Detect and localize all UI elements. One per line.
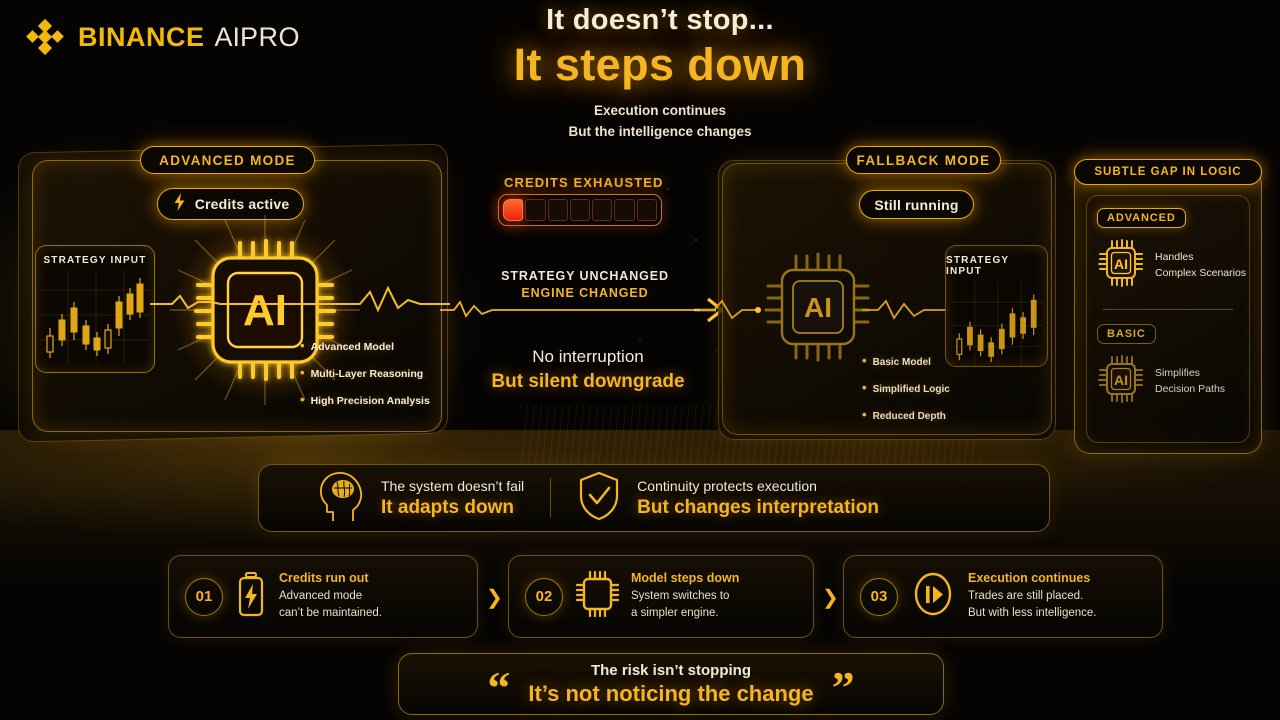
step-desc-line-1: Advanced mode [279,590,362,602]
step-desc: System switches to a simpler engine. [631,588,739,621]
step-card-01[interactable]: 01 Credits run out Advanced mode can’t b… [168,555,478,638]
gap-tag-basic: BASIC [1097,324,1156,344]
header-subtitle: Execution continues But the intelligence… [380,101,940,143]
step-text: Execution continues Trades are still pla… [968,571,1096,621]
infographic-canvas: BINANCEAIPRO It doesn’t stop... It steps… [0,0,1280,720]
step-desc-line-2: can’t be maintained. [279,607,382,619]
subtle-gap-title: SUBTLE GAP IN LOGIC [1094,166,1241,178]
statement-line-1: The system doesn’t fail [381,478,524,494]
binance-diamond-icon [24,16,66,58]
play-step-icon [910,571,956,622]
fallback-strategy-input-card: STRATEGY INPUT [945,245,1048,367]
credits-segment-empty [570,199,590,221]
step-number: 03 [860,578,898,616]
credits-exhausted-label: CREDITS EXHAUSTED [504,175,664,190]
brand-name-primary: BINANCE [78,22,205,52]
credits-progress-bar [498,194,662,226]
still-running-badge[interactable]: Still running [859,190,974,219]
step-arrow-2: ❯ [822,585,839,610]
brain-head-icon [317,469,365,528]
advanced-mode-title: ADVANCED MODE [159,153,296,168]
advanced-feature-item: High Precision Analysis [300,392,430,407]
advanced-feature-item: Multi-Layer Reasoning [300,365,430,380]
fallback-feature-item: Basic Model [862,353,950,368]
header-line-2: It steps down [380,39,940,91]
gap-text-advanced-line-1: Handles [1155,251,1194,263]
gap-text-basic-line-2: Decision Paths [1155,383,1225,395]
credits-segment-empty [525,199,545,221]
header-sub-2: But the intelligence changes [380,122,940,143]
shield-check-icon [577,470,621,527]
step-number: 01 [185,578,223,616]
step-desc: Trades are still placed. But with less i… [968,588,1096,621]
step-card-02[interactable]: 02 Model steps down System switches [508,555,814,638]
credits-segment-empty [548,199,568,221]
fallback-feature-item: Simplified Logic [862,380,950,395]
statement-line-2: It adapts down [381,497,524,519]
fallback-strategy-input-label: STRATEGY INPUT [946,255,1047,277]
gap-text-basic: Simplifies Decision Paths [1155,366,1225,398]
advanced-strategy-input-label: STRATEGY INPUT [43,255,146,266]
gap-divider [1103,309,1233,310]
basic-mini-chip-icon: AI [1097,354,1145,409]
flow-arrow [440,288,730,322]
svg-text:AI: AI [1114,372,1128,388]
gap-tag-advanced: ADVANCED [1097,208,1186,228]
flow-caption-line-1: STRATEGY UNCHANGED [470,269,700,283]
quote-text: The risk isn’t stopping It’s not noticin… [528,662,813,707]
brand-wordmark: BINANCEAIPRO [78,22,300,53]
step-desc-line-1: Trades are still placed. [968,590,1083,602]
step-desc-line-2: a simpler engine. [631,607,719,619]
statement-text: Continuity protects execution But change… [637,478,879,519]
statement-item: Continuity protects execution But change… [577,470,879,527]
fallback-feature-item: Reduced Depth [862,407,950,422]
advanced-feature-item: Advanced Model [300,338,430,353]
fallback-feature-list: Basic Model Simplified Logic Reduced Dep… [862,353,950,434]
header-line-1: It doesn’t stop... [380,4,940,37]
step-desc-line-1: System switches to [631,590,729,602]
brand-logo: BINANCEAIPRO [24,16,300,58]
header-block: It doesn’t stop... It steps down Executi… [380,4,940,143]
quote-line-1: The risk isn’t stopping [528,662,813,679]
gap-text-advanced: Handles Complex Scenarios [1155,250,1246,282]
statement-line-2: But changes interpretation [637,497,879,519]
subtle-gap-title-pill: SUBTLE GAP IN LOGIC [1074,159,1262,185]
step-arrow-1: ❯ [486,585,503,610]
step-text: Model steps down System switches to a si… [631,571,739,621]
cpu-chip-icon [575,570,619,623]
brand-name-secondary: AI [215,22,241,52]
fallback-waveform [700,290,950,330]
battery-bolt-icon [235,571,267,622]
statement-line-1: Continuity protects execution [637,478,879,494]
step-card-03[interactable]: 03 Execution continues Trades are still … [843,555,1163,638]
quote-banner: “ The risk isn’t stopping It’s not notic… [398,653,944,715]
step-number: 02 [525,578,563,616]
gap-text-advanced-line-2: Complex Scenarios [1155,267,1246,279]
subtle-gap-inner-frame: ADVANCED [1086,195,1250,443]
step-text: Credits run out Advanced mode can’t be m… [279,571,382,621]
brand-name-tertiary: PRO [240,22,300,52]
fallback-candlestick-chart [950,281,1044,366]
statement-bar: The system doesn’t fail It adapts down C… [258,464,1050,532]
credits-segment-empty [637,199,657,221]
advanced-candlestick-chart [40,270,150,364]
still-running-label: Still running [874,197,958,213]
statement-separator [550,478,551,518]
flow-note-line-1: No interruption [468,347,708,367]
advanced-mini-chip-icon: AI [1097,238,1145,293]
step-title: Model steps down [631,571,739,585]
advanced-waveform [150,270,450,330]
fallback-mode-title: FALLBACK MODE [857,153,991,168]
credits-active-label: Credits active [195,196,290,212]
gap-row-basic: BASIC [1097,324,1239,409]
credits-segment-empty [614,199,634,221]
advanced-mode-title-pill: ADVANCED MODE [140,146,315,174]
step-title: Execution continues [968,571,1096,585]
quote-line-2: It’s not noticing the change [528,681,813,707]
fallback-mode-title-pill: FALLBACK MODE [846,146,1001,174]
gap-row-advanced: ADVANCED [1097,208,1239,293]
flow-note-line-2: But silent downgrade [468,371,708,393]
step-desc: Advanced mode can’t be maintained. [279,588,382,621]
statement-text: The system doesn’t fail It adapts down [381,478,524,519]
credits-segment-filled [503,199,523,221]
step-desc-line-2: But with less intelligence. [968,607,1096,619]
step-title: Credits run out [279,571,382,585]
lightning-bolt-icon [172,193,187,216]
svg-text:AI: AI [1114,256,1128,272]
statement-item: The system doesn’t fail It adapts down [317,469,524,528]
advanced-strategy-input-card: STRATEGY INPUT [35,245,155,373]
gap-text-basic-line-1: Simplifies [1155,367,1200,379]
header-sub-1: Execution continues [380,101,940,122]
flow-note: No interruption But silent downgrade [468,347,708,393]
credits-segment-empty [592,199,612,221]
advanced-feature-list: Advanced Model Multi-Layer Reasoning Hig… [300,338,430,419]
